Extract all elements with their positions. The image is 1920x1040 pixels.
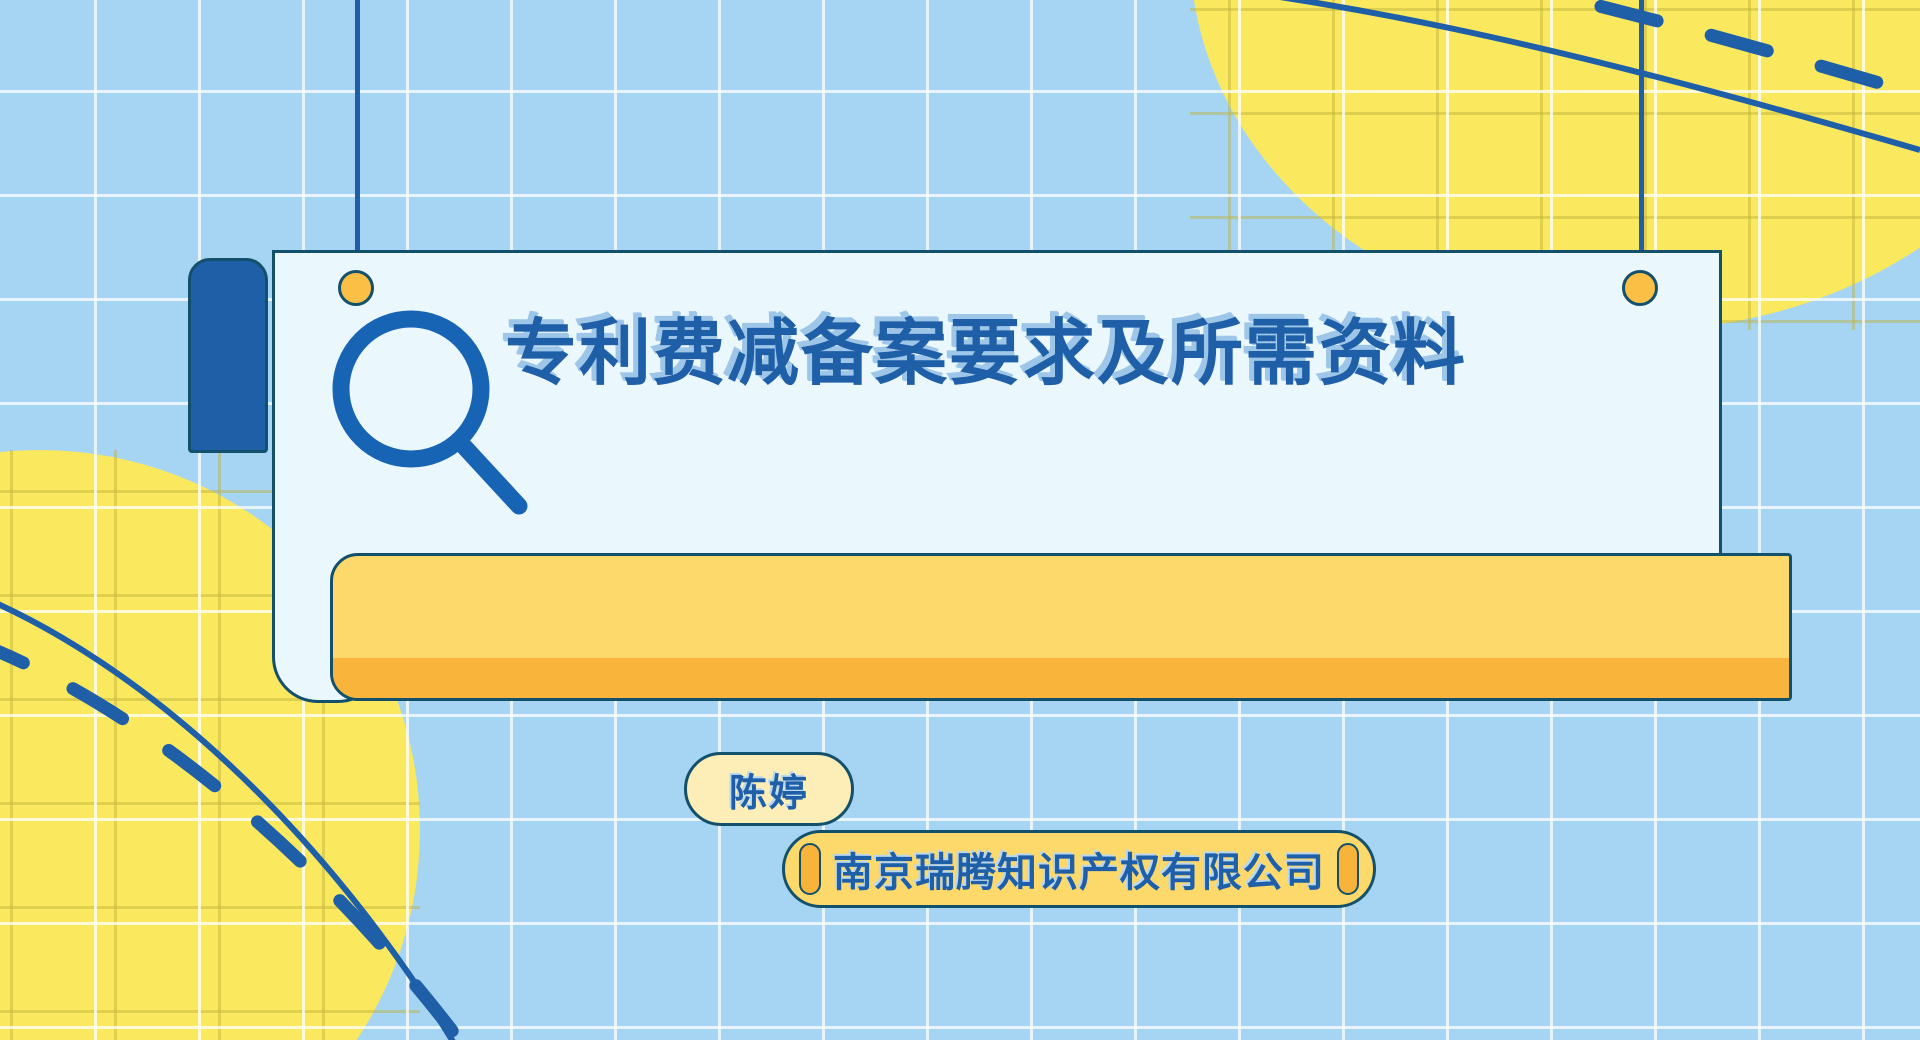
presentation-slide: 专利费减备案要求及所需资料 陈婷 南京瑞腾知识产权有限公司 xyxy=(0,0,1920,1040)
yellow-bar-shade xyxy=(333,658,1789,698)
card-side-tab xyxy=(188,258,268,453)
hanging-knob-right xyxy=(1622,270,1658,306)
company-badge: 南京瑞腾知识产权有限公司 xyxy=(782,830,1376,908)
hanging-knob-left xyxy=(338,270,374,306)
curve-solid-top-right xyxy=(1040,0,1920,150)
author-badge: 陈婷 xyxy=(684,752,854,826)
curve-dashed-top-right xyxy=(1040,0,1920,95)
pill-cap-right-icon xyxy=(1337,843,1359,895)
title-card xyxy=(272,250,1722,556)
yellow-accent-bar xyxy=(330,553,1792,701)
author-name: 陈婷 xyxy=(729,762,809,817)
company-name: 南京瑞腾知识产权有限公司 xyxy=(833,840,1325,898)
page-title: 专利费减备案要求及所需资料 xyxy=(505,318,1467,390)
pill-cap-left-icon xyxy=(799,843,821,895)
